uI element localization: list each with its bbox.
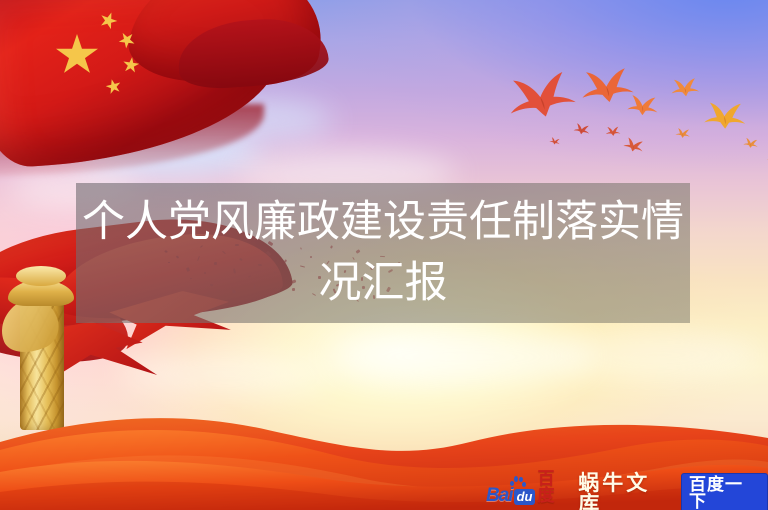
baidu-du-badge: du [514, 489, 536, 505]
bird-icon [605, 126, 621, 137]
baidu-paw-icon [509, 476, 526, 489]
bird-icon [626, 93, 660, 117]
title-overlay-panel: 个人党风廉政建设责任制落实情 况汇报 [76, 183, 690, 323]
column-top-disc [16, 266, 66, 286]
bird-icon [703, 100, 747, 130]
bird-icon [675, 127, 692, 139]
baidu-logo[interactable]: Bai du 百度 [486, 483, 570, 505]
chinese-flag [0, 0, 302, 186]
poster-title-line-1: 个人党风廉政建设责任制落实情 [82, 192, 684, 253]
baidu-search-button[interactable]: 百度一下 [681, 473, 768, 510]
poster-canvas: 个人党风廉政建设责任制落实情 况汇报 Bai du 百度 蜗牛文库 百度一下 [0, 0, 768, 510]
cloud-shape [120, 352, 330, 396]
poster-title-line-2: 况汇报 [319, 253, 448, 314]
watermark-bar: Bai du 百度 蜗牛文库 百度一下 [486, 480, 768, 508]
baidu-chinese-text: 百度 [537, 471, 570, 505]
cloud-shape [560, 330, 760, 380]
site-brand-label: 蜗牛文库 [578, 473, 673, 510]
bird-icon [670, 76, 701, 97]
